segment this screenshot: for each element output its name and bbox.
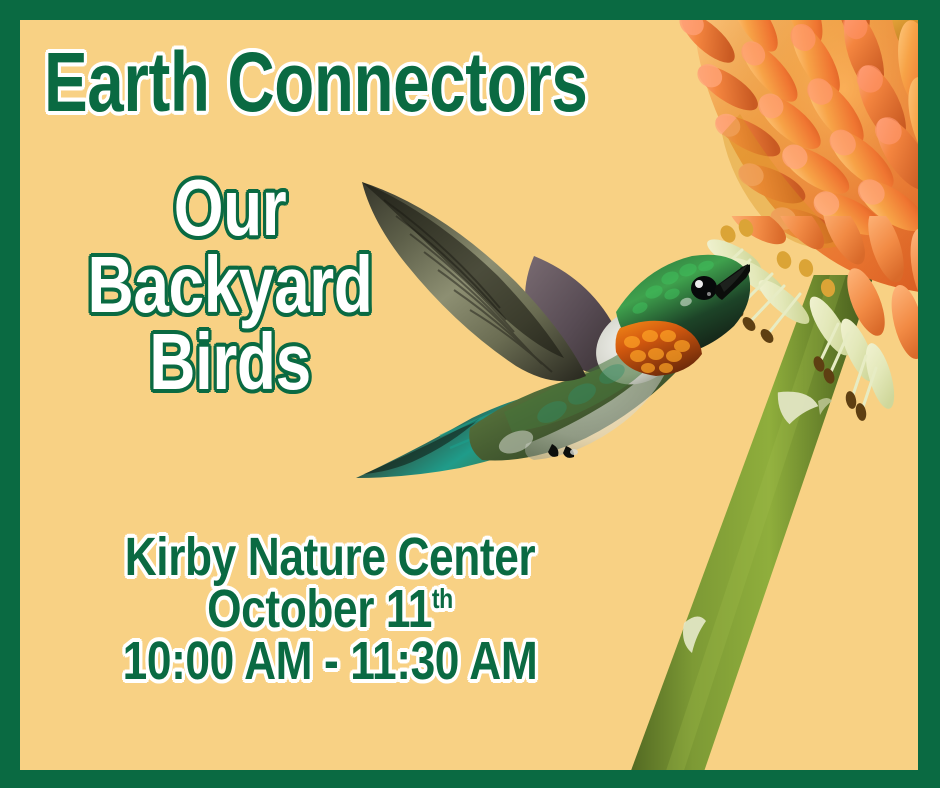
- ruby-throated-hummingbird: [320, 160, 750, 510]
- event-poster: Earth Connectors Our Backyard Birds Kirb…: [0, 0, 940, 788]
- poster-canvas: Earth Connectors Our Backyard Birds Kirb…: [20, 20, 918, 770]
- venue-name: Kirby Nature Center: [76, 532, 584, 584]
- event-details-block: Kirby Nature Center October 11th 10:00 A…: [20, 532, 640, 687]
- organization-title: Earth Connectors: [44, 42, 587, 123]
- event-date: October 11th: [76, 584, 584, 636]
- event-date-ordinal-suffix: th: [432, 583, 453, 614]
- event-time-range: 10:00 AM - 11:30 AM: [76, 636, 584, 688]
- event-date-text: October 11: [207, 579, 432, 639]
